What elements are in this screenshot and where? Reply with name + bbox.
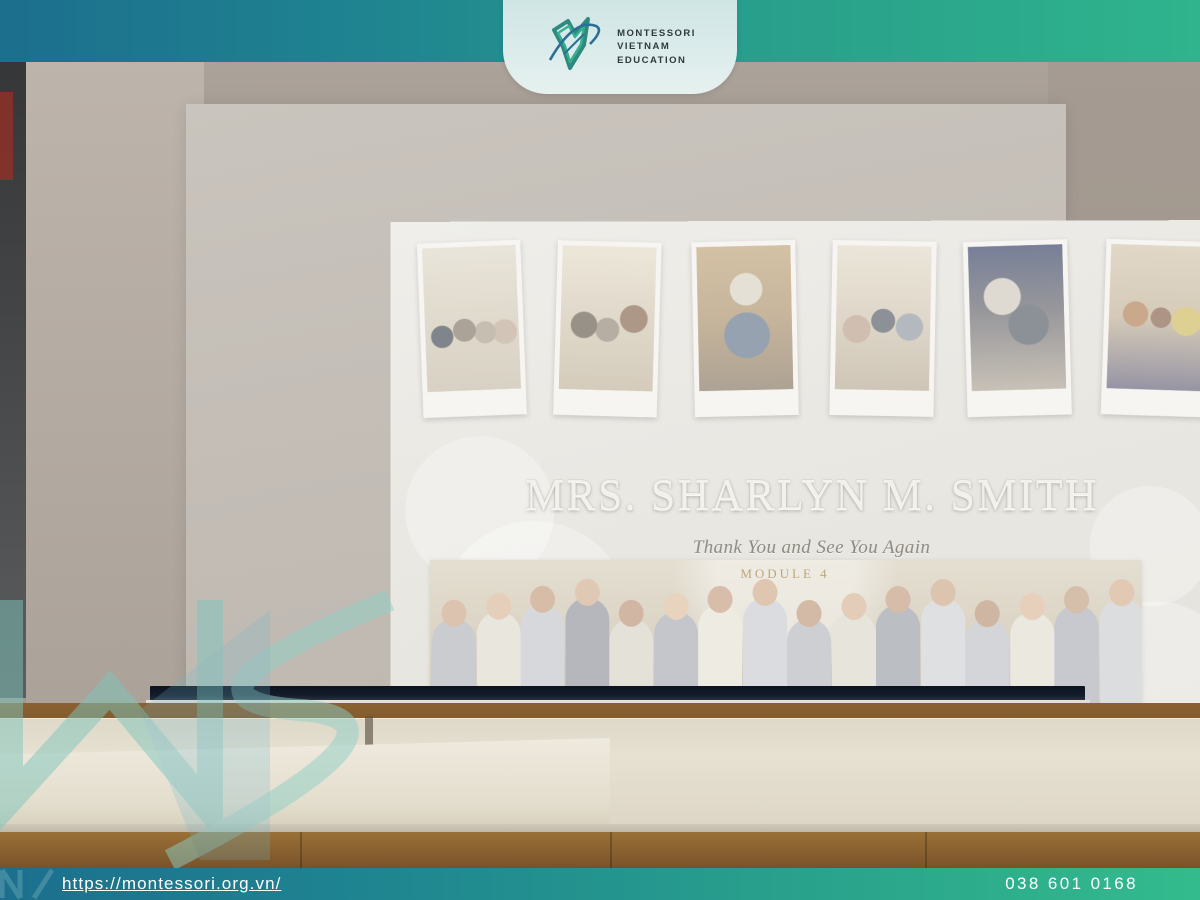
- wall-left-panel: [26, 58, 204, 703]
- projector-screen: MRS. SHARLYN M. SMITH Thank You and See …: [186, 104, 1066, 704]
- polaroid-photo: [963, 239, 1072, 417]
- polaroid-image: [1107, 244, 1200, 391]
- wood-panel-seam: [300, 832, 302, 868]
- polaroid-photo: [1101, 239, 1200, 418]
- polaroid-image: [968, 244, 1066, 391]
- slide-title: MRS. SHARLYN M. SMITH: [390, 469, 1200, 520]
- group-photo-backdrop-text: MODULE 4: [740, 566, 829, 582]
- footer-website-link[interactable]: https://montessori.org.vn/: [62, 874, 281, 894]
- brand-logo-badge: MONTESSORI VIETNAM EDUCATION: [503, 0, 737, 94]
- brand-name-line2: VIETNAM: [617, 40, 696, 53]
- polaroid-image: [835, 245, 932, 391]
- polaroid-photo: [829, 240, 936, 417]
- room-photo-scene: MRS. SHARLYN M. SMITH Thank You and See …: [0, 0, 1200, 868]
- brand-name-line3: EDUCATION: [617, 54, 696, 67]
- stage-wood-front: [0, 832, 1200, 868]
- slide-subtitle: Thank You and See You Again: [390, 537, 1200, 559]
- polaroid-photo: [417, 240, 527, 419]
- polaroid-image: [422, 245, 521, 392]
- footer-phone-number: 038 601 0168: [1005, 874, 1138, 894]
- screen-bottom-bar: [150, 686, 1085, 701]
- red-object-left: [0, 92, 13, 180]
- montessori-star-logo-icon: [544, 14, 608, 80]
- wood-panel-seam: [925, 832, 927, 868]
- brand-name-line1: MONTESSORI: [617, 27, 696, 40]
- group-photo: MODULE 4: [430, 560, 1142, 704]
- footer-contact-bar: https://montessori.org.vn/ 038 601 0168: [0, 868, 1200, 900]
- brand-name-block: MONTESSORI VIETNAM EDUCATION: [617, 27, 696, 67]
- polaroid-image: [696, 245, 793, 391]
- polaroid-photo-strip: [404, 240, 1200, 431]
- polaroid-image: [559, 245, 657, 391]
- group-photo-person: [1099, 598, 1142, 703]
- polaroid-photo: [553, 240, 662, 417]
- polaroid-photo: [691, 240, 799, 417]
- wood-panel-seam: [610, 832, 612, 868]
